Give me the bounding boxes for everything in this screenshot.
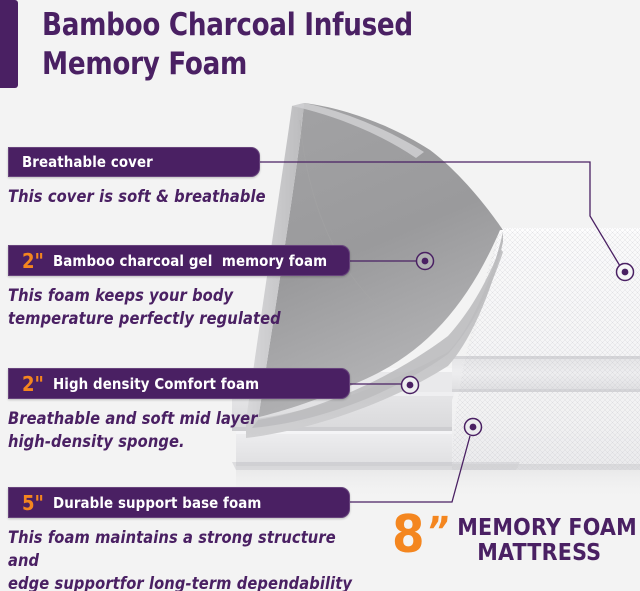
label-pill-durable-support-base[interactable]: 5" Durable support base foam <box>8 487 350 518</box>
product-size-callout: 8 ” MEMORY FOAM MATTRESS <box>392 512 637 566</box>
description-line: This foam keeps your body <box>8 285 296 308</box>
thickness-bamboo-charcoal-gel: 2" <box>22 251 44 271</box>
thickness-high-density-comfort: 2" <box>22 374 44 394</box>
description-durable-support-base: This foam maintains a strong structure a… <box>8 527 354 591</box>
label-text-high-density-comfort: High density Comfort foam <box>53 375 259 393</box>
marker-bamboo-charcoal-gel <box>417 253 434 270</box>
label-pill-bamboo-charcoal-gel[interactable]: 2" Bamboo charcoal gel memory foam <box>8 245 350 276</box>
mattress-infographic: Bamboo Charcoal Infused Memory Foam <box>0 0 640 591</box>
description-line: high-density sponge. <box>8 431 296 454</box>
label-pill-high-density-comfort[interactable]: 2" High density Comfort foam <box>8 368 350 399</box>
product-name-line-2: MATTRESS <box>457 541 637 566</box>
label-text-durable-support-base: Durable support base foam <box>53 494 261 512</box>
label-pill-breathable-cover[interactable]: Breathable cover <box>8 147 260 177</box>
description-line: This foam maintains a strong structure a… <box>8 527 354 573</box>
marker-durable-support-base <box>465 419 482 436</box>
description-line: edge supportfor long-term dependability <box>8 573 354 591</box>
size-number: 8 <box>392 512 424 558</box>
description-line: Breathable and soft mid layer <box>8 408 296 431</box>
thickness-durable-support-base: 5" <box>22 493 44 513</box>
label-text-bamboo-charcoal-gel: Bamboo charcoal gel memory foam <box>53 252 327 270</box>
description-line: temperature perfectly regulated <box>8 308 296 331</box>
product-name-line-1: MEMORY FOAM <box>457 516 637 541</box>
description-line: This cover is soft & breathable <box>8 186 334 209</box>
label-text-breathable-cover: Breathable cover <box>22 153 153 171</box>
inch-symbol: ” <box>423 512 451 552</box>
product-name: MEMORY FOAM MATTRESS <box>457 512 637 566</box>
description-bamboo-charcoal-gel: This foam keeps your body temperature pe… <box>8 285 296 331</box>
description-high-density-comfort: Breathable and soft mid layer high-densi… <box>8 408 296 454</box>
description-breathable-cover: This cover is soft & breathable <box>8 186 334 209</box>
marker-high-density-comfort <box>402 377 419 394</box>
marker-breathable-cover <box>617 264 634 281</box>
